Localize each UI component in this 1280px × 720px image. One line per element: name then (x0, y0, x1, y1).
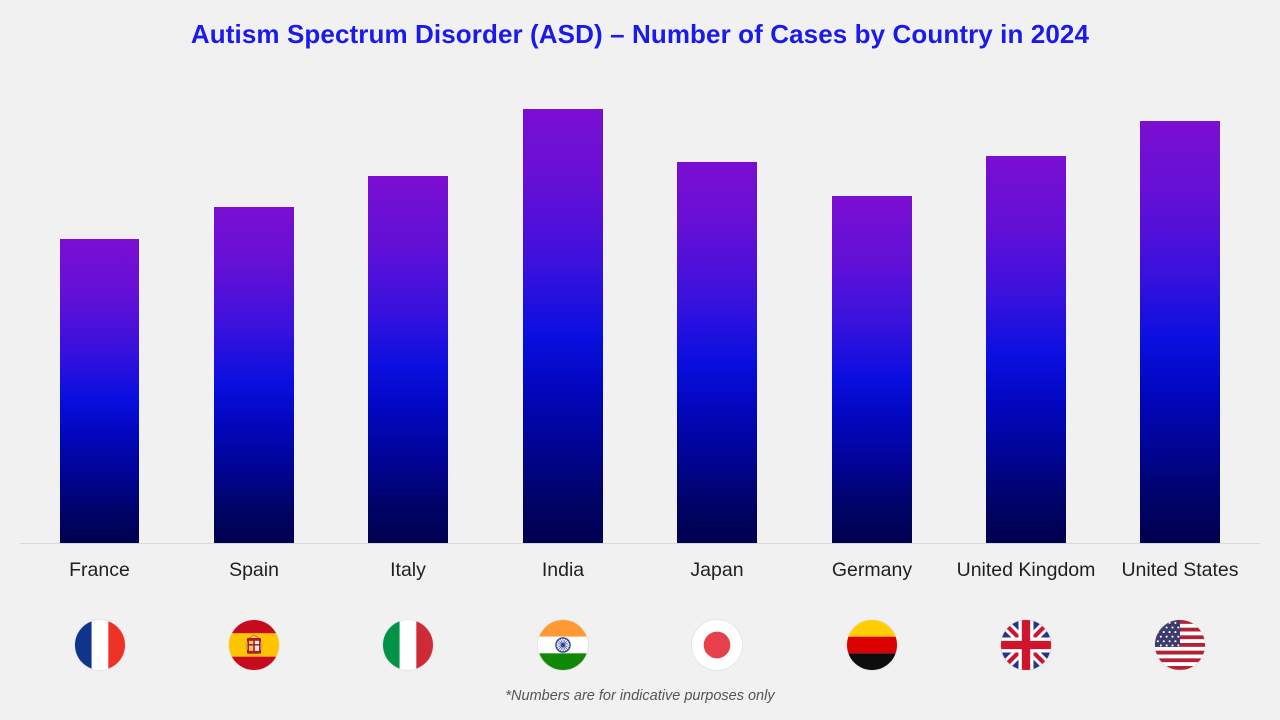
flag-united-states-icon (1155, 620, 1205, 670)
bars-container (0, 0, 1280, 543)
flag-united-kingdom-icon (1001, 620, 1051, 670)
bar-spain[interactable] (214, 207, 294, 543)
chart-footnote: *Numbers are for indicative purposes onl… (0, 688, 1280, 704)
category-label-germany: Germany (802, 556, 942, 585)
flag-germany-icon (847, 620, 897, 670)
bar-japan[interactable] (677, 162, 757, 543)
category-label-japan: Japan (647, 556, 787, 585)
category-label-united-kingdom: United Kingdom (956, 556, 1096, 585)
flag-japan-icon (692, 620, 742, 670)
category-label-italy: Italy (338, 556, 478, 585)
bar-germany[interactable] (832, 196, 912, 543)
bar-italy[interactable] (368, 176, 448, 543)
bar-united-kingdom[interactable] (986, 156, 1066, 543)
flag-india-icon (538, 620, 588, 670)
bar-france[interactable] (60, 239, 139, 543)
bar-chart-figure: Autism Spectrum Disorder (ASD) – Number … (0, 0, 1280, 720)
category-label-united-states: United States (1110, 556, 1250, 585)
category-label-india: India (493, 556, 633, 585)
bar-united-states[interactable] (1140, 121, 1220, 543)
x-axis-line (20, 543, 1260, 544)
flag-italy-icon (383, 620, 433, 670)
category-label-france: France (30, 556, 170, 585)
bar-india[interactable] (523, 109, 603, 543)
category-label-spain: Spain (184, 556, 324, 585)
flag-spain-icon (229, 620, 279, 670)
category-labels-container: FranceSpainItalyIndiaJapanGermanyUnited … (0, 556, 1280, 616)
flag-icons-container (0, 620, 1280, 675)
flag-france-icon (75, 620, 125, 670)
